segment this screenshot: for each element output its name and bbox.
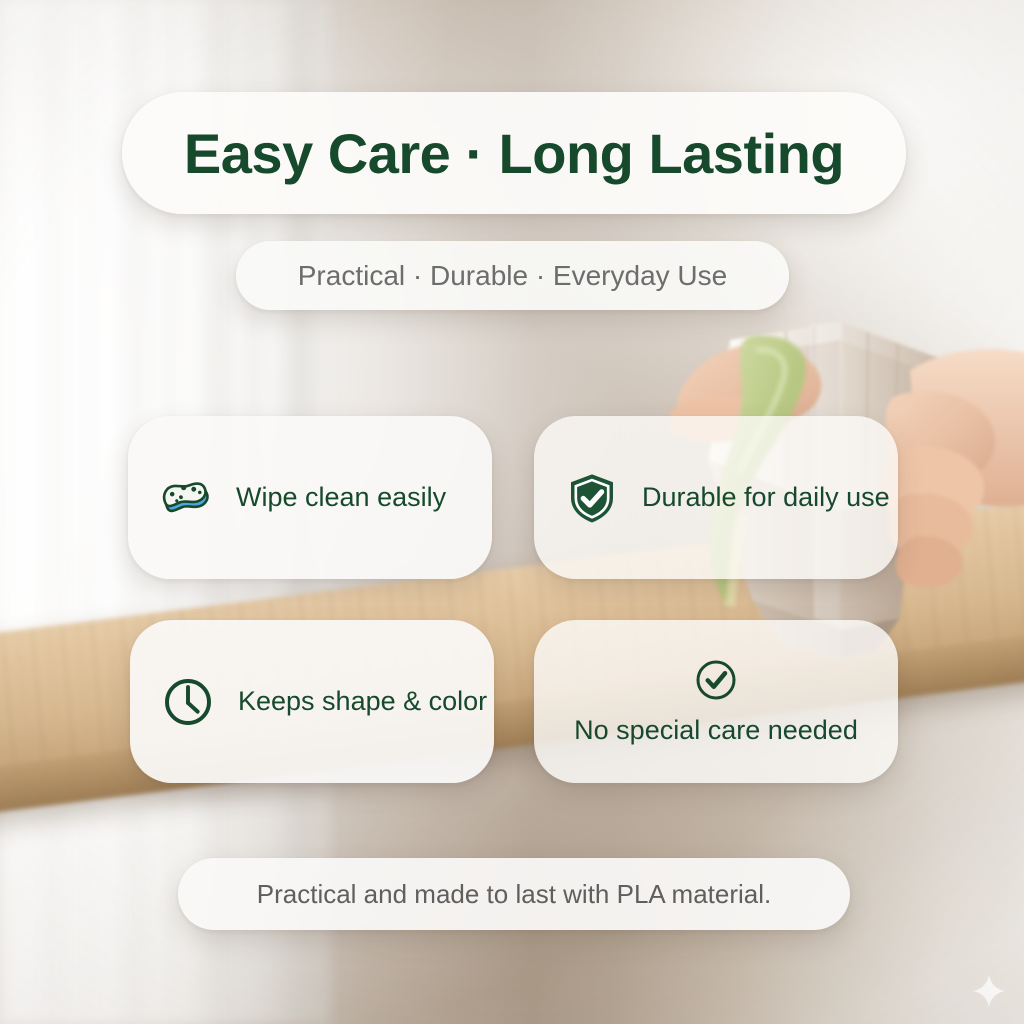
footer-card: Practical and made to last with PLA mate… [178,858,850,930]
page-title: Easy Care · Long Lasting [184,121,844,186]
feature-card-keeps-shape[interactable]: Keeps shape & color [130,620,494,783]
page-subtitle: Practical · Durable · Everyday Use [298,260,727,292]
feature-card-durable[interactable]: Durable for daily use [534,416,898,579]
feature-label: No special care needed [574,714,858,746]
sponge-icon [158,470,214,526]
feature-label: Durable for daily use [642,481,890,513]
feature-label: Wipe clean easily [236,481,446,513]
circle-check-icon [692,656,740,704]
clock-icon [160,674,216,730]
title-card: Easy Care · Long Lasting [122,92,906,214]
subtitle-card: Practical · Durable · Everyday Use [236,241,789,310]
feature-label: Keeps shape & color [238,685,487,717]
footer-text: Practical and made to last with PLA mate… [257,879,771,910]
sparkle-icon [972,974,1006,1008]
infographic-canvas: Easy Care · Long Lasting Practical · Dur… [0,0,1024,1024]
feature-card-wipe-clean[interactable]: Wipe clean easily [128,416,492,579]
feature-card-no-special-care[interactable]: No special care needed [534,620,898,783]
shield-check-icon [564,470,620,526]
